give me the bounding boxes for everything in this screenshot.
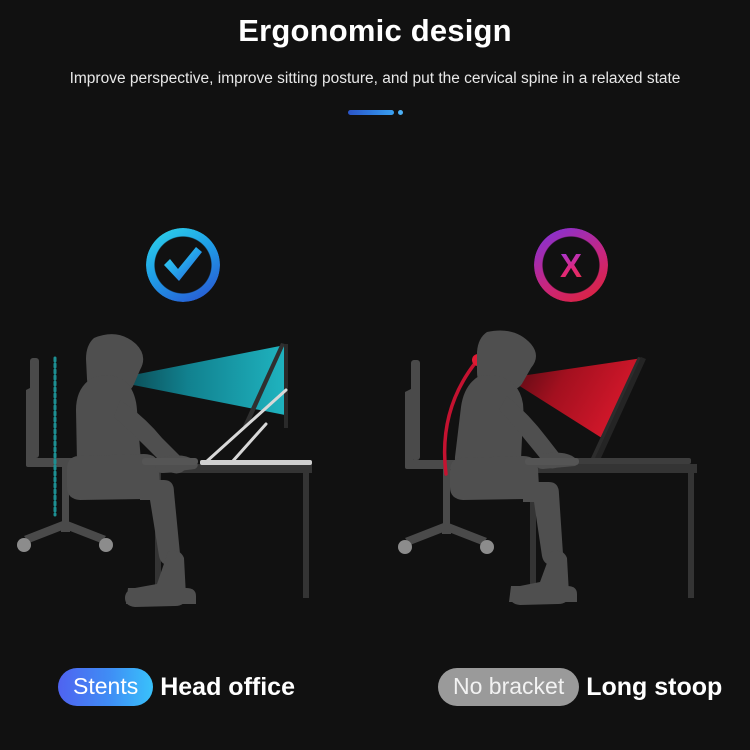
ergonomic-design-infographic: { "header": { "title": "Ergonomic design… [0, 0, 750, 750]
good-posture-badge [146, 228, 220, 302]
caption-bad: No bracket Long stoop [438, 668, 722, 706]
bad-posture-badge: X [534, 228, 608, 302]
caption-bad-text: Long stoop [586, 673, 722, 702]
x-mark-icon: X [534, 228, 608, 302]
no-bracket-pill: No bracket [438, 668, 579, 706]
divider-bar [348, 110, 394, 115]
illustration-stage [0, 330, 750, 650]
keyboard [142, 458, 198, 465]
divider [0, 106, 750, 120]
caption-good: Stents Head office [58, 668, 295, 706]
scene-bad-posture [375, 330, 750, 650]
header: Ergonomic design Improve perspective, im… [0, 0, 750, 120]
page-subtitle: Improve perspective, improve sitting pos… [45, 65, 705, 92]
divider-dot [398, 110, 403, 115]
keyboard [525, 458, 579, 465]
scene-good-posture [0, 330, 375, 650]
stents-pill: Stents [58, 668, 153, 706]
captions: Stents Head office No bracket Long stoop [0, 668, 750, 728]
check-mark-icon [146, 228, 220, 302]
x-mark-glyph: X [560, 249, 582, 282]
page-title: Ergonomic design [0, 12, 750, 51]
caption-good-text: Head office [160, 673, 295, 702]
